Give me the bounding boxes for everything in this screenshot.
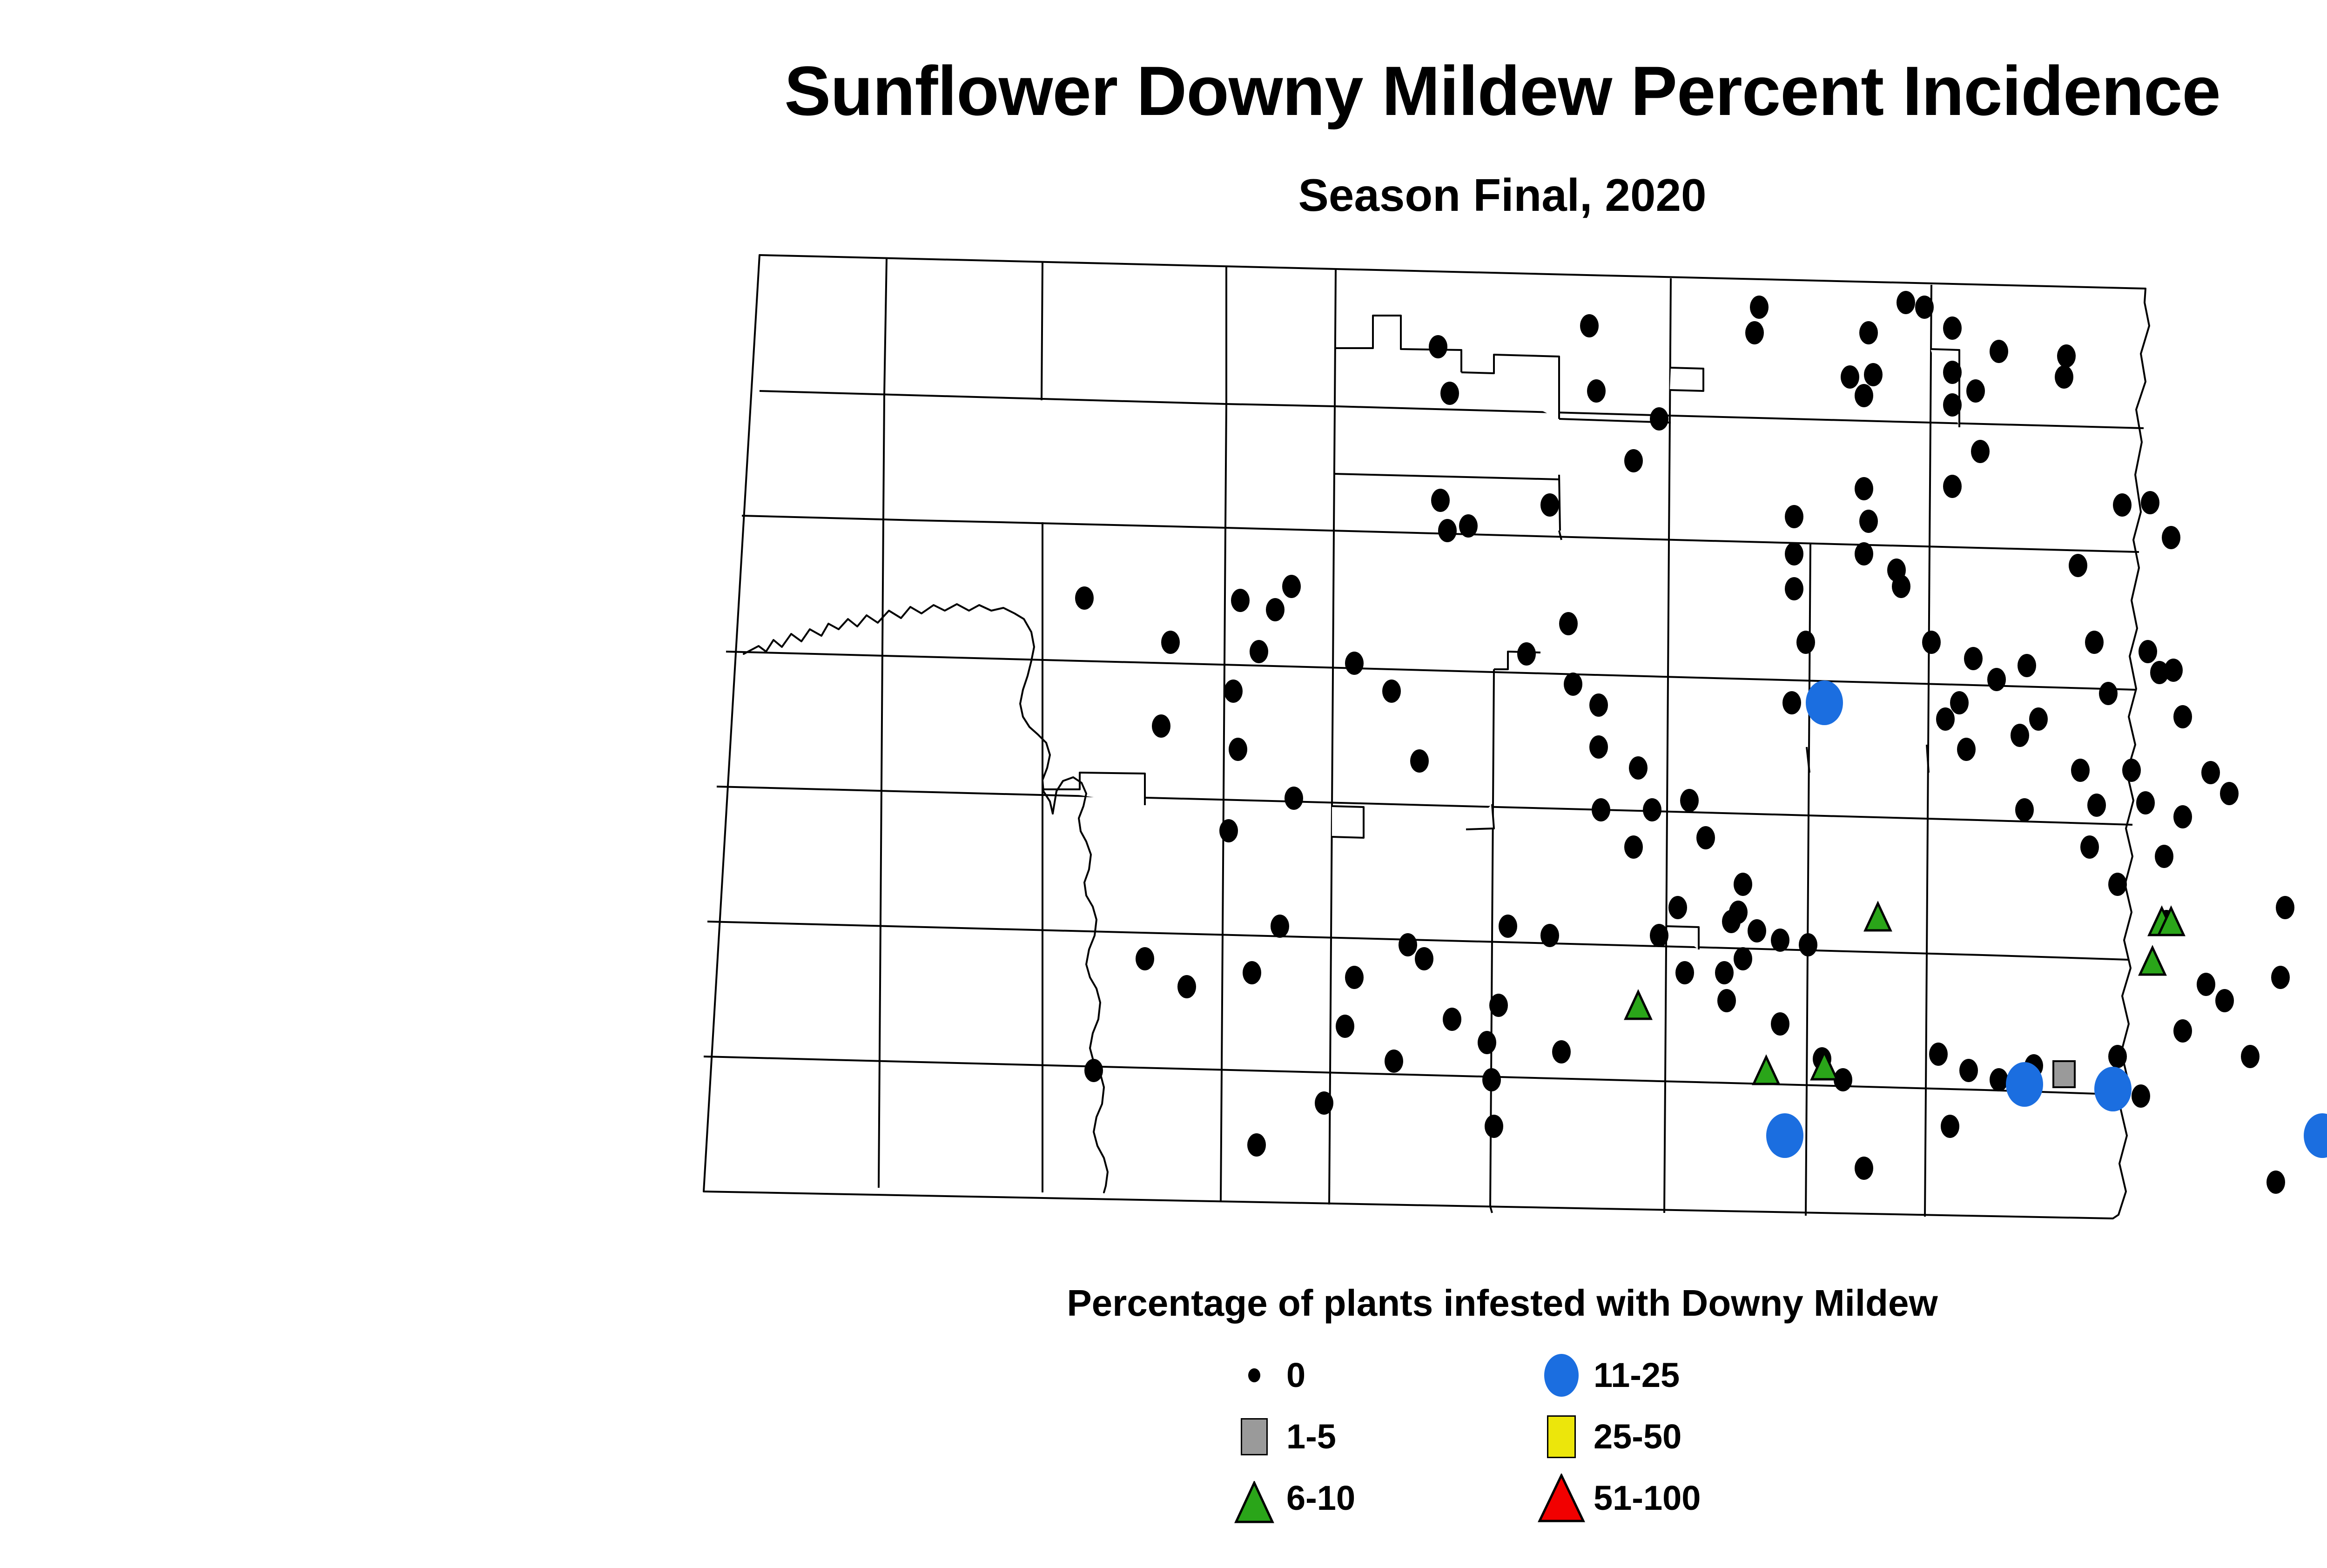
map-marker-0 xyxy=(1152,714,1170,738)
legend-label-0: 0 xyxy=(1286,1358,1305,1393)
map-marker-0 xyxy=(1075,586,1094,610)
map-marker-1-5 xyxy=(2053,1061,2075,1087)
map-marker-0 xyxy=(1855,477,1873,500)
map-marker-0 xyxy=(1177,975,1196,998)
map-marker-0 xyxy=(1589,735,1608,759)
map-marker-0 xyxy=(2122,759,2141,782)
map-marker-0 xyxy=(1922,631,1941,654)
map-marker-0 xyxy=(1540,924,1559,947)
map-marker-0 xyxy=(2108,873,2127,896)
map-marker-0 xyxy=(1750,296,1769,319)
map-marker-6-10 xyxy=(2140,948,2165,975)
map-marker-0 xyxy=(1915,296,1934,319)
legend-label-1-5: 1-5 xyxy=(1286,1420,1336,1454)
legend-label-6-10: 6-10 xyxy=(1286,1481,1355,1515)
map-marker-11-25 xyxy=(2094,1067,2132,1111)
map-marker-0 xyxy=(1580,314,1599,337)
map-marker-0 xyxy=(2173,705,2192,728)
map-marker-0 xyxy=(1345,966,1364,989)
map-marker-0 xyxy=(1859,321,1878,344)
map-marker-0 xyxy=(1382,680,1401,703)
green-triangle-icon xyxy=(1229,1473,1280,1524)
legend-item-0[interactable]: 0 xyxy=(1229,1350,1305,1401)
map-marker-0 xyxy=(1231,589,1250,612)
map-marker-0 xyxy=(1271,915,1289,938)
map-marker-0 xyxy=(1629,756,1648,780)
map-marker-0 xyxy=(1696,826,1715,849)
map-marker-0 xyxy=(2087,794,2106,817)
map-marker-0 xyxy=(1229,738,1247,761)
legend-title: Percentage of plants infested with Downy… xyxy=(0,1285,2327,1322)
map-marker-0 xyxy=(1855,384,1873,407)
map-marker-0 xyxy=(1785,577,1803,600)
map-marker-0 xyxy=(1243,961,1261,984)
map-marker-0 xyxy=(1136,947,1154,970)
map-marker-0 xyxy=(2085,631,2104,654)
north-dakota-county-map xyxy=(675,233,2327,1257)
map-marker-0 xyxy=(1680,789,1699,812)
map-marker-0 xyxy=(1399,933,1417,956)
map-marker-0 xyxy=(1799,933,1817,956)
map-marker-0 xyxy=(1250,640,1268,663)
map-marker-11-25 xyxy=(2304,1113,2327,1158)
map-marker-0 xyxy=(1748,919,1766,942)
map-marker-0 xyxy=(2029,707,2048,731)
map-marker-0 xyxy=(2011,724,2029,747)
map-marker-0 xyxy=(1959,1059,1978,1082)
map-marker-0 xyxy=(1897,291,1915,314)
small-black-circle-icon xyxy=(1229,1350,1280,1401)
red-triangle-icon xyxy=(1536,1473,1587,1524)
map-marker-0 xyxy=(1415,947,1433,970)
map-marker-0 xyxy=(2071,759,2090,782)
map-marker-0 xyxy=(2241,1045,2260,1068)
map-page: Sunflower Downy Mildew Percent Incidence… xyxy=(0,0,2327,1568)
map-marker-0 xyxy=(1941,1115,1959,1138)
map-marker-0 xyxy=(1489,994,1508,1017)
map-marker-0 xyxy=(2164,659,2183,682)
legend-item-25-50[interactable]: 25-50 xyxy=(1536,1411,1681,1462)
map-marker-0 xyxy=(1315,1091,1333,1115)
map-marker-0 xyxy=(1624,835,1643,859)
map-marker-0 xyxy=(1459,514,1478,538)
map-marker-0 xyxy=(1429,335,1447,358)
map-marker-0 xyxy=(2055,365,2073,389)
map-marker-0 xyxy=(1084,1059,1103,1082)
legend-item-6-10[interactable]: 6-10 xyxy=(1229,1473,1355,1524)
map-marker-0 xyxy=(2173,805,2192,828)
map-marker-0 xyxy=(1717,989,1736,1012)
map-marker-0 xyxy=(1552,1040,1571,1063)
map-marker-0 xyxy=(1966,379,1985,403)
map-marker-0 xyxy=(1559,612,1578,635)
map-marker-0 xyxy=(1943,393,1962,417)
map-marker-0 xyxy=(2141,491,2159,514)
gray-square-icon xyxy=(1229,1411,1280,1462)
map-marker-0 xyxy=(1592,798,1610,821)
map-marker-0 xyxy=(1540,493,1559,517)
map-marker-0 xyxy=(1438,519,1457,542)
map-marker-0 xyxy=(1587,379,1606,403)
legend-item-11-25[interactable]: 11-25 xyxy=(1536,1350,1680,1401)
map-marker-0 xyxy=(2132,1084,2150,1108)
map-marker-0 xyxy=(1266,598,1285,621)
map-marker-0 xyxy=(1715,961,1734,984)
map-marker-0 xyxy=(2266,1171,2285,1194)
page-subtitle: Season Final, 2020 xyxy=(0,172,2327,218)
map-marker-0 xyxy=(1675,961,1694,984)
map-marker-11-25 xyxy=(1806,680,1843,725)
map-marker-0 xyxy=(1987,668,2006,691)
map-marker-0 xyxy=(1943,316,1962,340)
map-marker-0 xyxy=(1943,475,1962,498)
map-marker-0 xyxy=(1431,489,1450,512)
map-marker-0 xyxy=(1722,910,1741,933)
map-marker-0 xyxy=(1668,896,1687,919)
map-marker-0 xyxy=(1864,363,1883,386)
page-title: Sunflower Downy Mildew Percent Incidence xyxy=(0,56,2327,126)
map-marker-0 xyxy=(2015,798,2034,821)
map-marker-0 xyxy=(1517,642,1536,666)
map-marker-0 xyxy=(1282,575,1301,598)
map-marker-0 xyxy=(1929,1043,1948,1066)
map-marker-0 xyxy=(2276,896,2294,919)
map-marker-0 xyxy=(1892,575,1910,598)
map-marker-0 xyxy=(1485,1115,1503,1138)
map-marker-0 xyxy=(1990,340,2008,363)
map-marker-0 xyxy=(2108,1045,2127,1068)
map-marker-0 xyxy=(1336,1015,1354,1038)
legend-item-1-5[interactable]: 1-5 xyxy=(1229,1411,1336,1462)
map-marker-0 xyxy=(1224,680,1243,703)
map-marker-0 xyxy=(1855,542,1873,565)
map-marker-0 xyxy=(2220,782,2239,805)
map-marker-0 xyxy=(1482,1068,1501,1091)
map-marker-0 xyxy=(1219,819,1238,842)
map-marker-0 xyxy=(1410,749,1429,773)
map-marker-0 xyxy=(1385,1050,1403,1073)
map-marker-0 xyxy=(1841,365,1859,389)
map-marker-0 xyxy=(2139,640,2157,663)
map-marker-0 xyxy=(1643,798,1661,821)
map-marker-0 xyxy=(1782,691,1801,714)
map-marker-0 xyxy=(1950,691,1969,714)
map-marker-0 xyxy=(2136,791,2155,814)
map-marker-0 xyxy=(1796,631,1815,654)
yellow-square-icon xyxy=(1536,1411,1587,1462)
map-marker-0 xyxy=(1345,652,1364,675)
map-marker-0 xyxy=(2069,554,2087,577)
county-boundaries xyxy=(704,255,2149,1218)
map-marker-0 xyxy=(1440,382,1459,405)
map-marker-0 xyxy=(1771,929,1789,952)
map-marker-0 xyxy=(1624,449,1643,472)
map-marker-0 xyxy=(1734,947,1752,970)
map-marker-0 xyxy=(1859,510,1878,533)
map-marker-0 xyxy=(1564,673,1582,696)
map-marker-0 xyxy=(2173,1019,2192,1043)
map-marker-0 xyxy=(2080,835,2099,859)
map-marker-0 xyxy=(2215,989,2234,1012)
map-marker-0 xyxy=(2099,682,2118,705)
map-marker-0 xyxy=(1785,505,1803,528)
map-marker-0 xyxy=(1855,1157,1873,1180)
map-marker-0 xyxy=(1785,542,1803,565)
legend-label-11-25: 11-25 xyxy=(1594,1358,1680,1393)
map-marker-0 xyxy=(1499,915,1517,938)
map-marker-0 xyxy=(1964,647,1983,670)
map-marker-0 xyxy=(1990,1068,2008,1091)
legend: 0 1-5 6-10 11-25 25-50 51-100 xyxy=(1191,1350,1871,1536)
map-marker-0 xyxy=(2271,966,2290,989)
blue-circle-icon xyxy=(1536,1350,1587,1401)
map-marker-0 xyxy=(1957,738,1976,761)
map-marker-0 xyxy=(1943,361,1962,384)
map-marker-11-25 xyxy=(2006,1062,2043,1107)
map-marker-0 xyxy=(1734,873,1752,896)
map-marker-11-25 xyxy=(1766,1113,1803,1158)
legend-label-51-100: 51-100 xyxy=(1594,1481,1701,1515)
map-marker-0 xyxy=(1971,440,1990,463)
map-marker-0 xyxy=(2018,654,2036,677)
map-marker-0 xyxy=(2155,845,2173,868)
map-marker-0 xyxy=(1161,631,1180,654)
map-marker-0 xyxy=(1936,707,1955,731)
map-marker-0 xyxy=(2057,344,2076,368)
map-marker-0 xyxy=(1478,1031,1496,1054)
map-marker-0 xyxy=(1771,1012,1789,1036)
map-marker-0 xyxy=(1247,1133,1266,1157)
map-marker-0 xyxy=(1650,924,1668,947)
map-marker-0 xyxy=(2197,973,2215,996)
legend-label-25-50: 25-50 xyxy=(1594,1420,1681,1454)
map-marker-0 xyxy=(1650,407,1668,431)
map-marker-0 xyxy=(2113,493,2132,517)
map-marker-0 xyxy=(1285,787,1303,810)
map-marker-0 xyxy=(2162,526,2180,549)
legend-item-51-100[interactable]: 51-100 xyxy=(1536,1473,1701,1524)
map-marker-0 xyxy=(1745,321,1764,344)
map-marker-0 xyxy=(2201,761,2220,784)
map-marker-0 xyxy=(1443,1008,1461,1031)
map-marker-0 xyxy=(1589,693,1608,717)
